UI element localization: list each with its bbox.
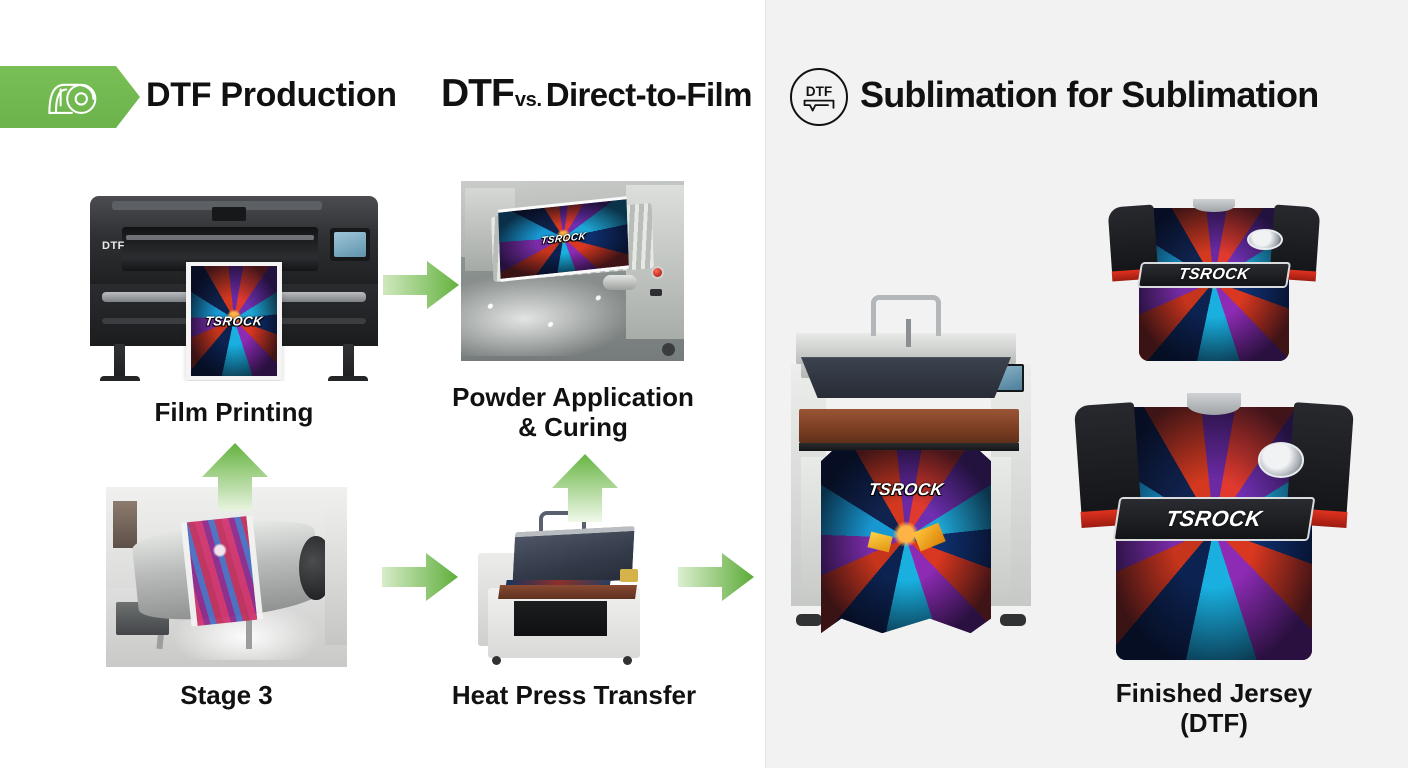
jersey-bottom-crest-badge <box>1258 442 1304 477</box>
caption-heat-press-transfer: Heat Press Transfer <box>424 681 724 711</box>
big-press-lower-platen <box>799 409 1019 444</box>
big-press-draped-jersey: TSROCK <box>821 450 991 633</box>
calender-printed-fabric <box>180 516 263 627</box>
heat-press-transfer-image <box>474 508 654 668</box>
calender-wall-panel <box>113 501 137 548</box>
powder-film-artwork: TSROCK <box>498 199 629 279</box>
heat-press-upper-platen <box>512 526 634 587</box>
big-press-platen-edge <box>799 443 1019 451</box>
printer-foot-left <box>100 376 140 381</box>
header-title-middle-strong: DTF <box>441 72 514 116</box>
printer-foot-right <box>328 376 368 381</box>
big-press-heat-platen <box>801 357 1011 398</box>
heat-press-caster-right <box>623 656 632 665</box>
dtf-circle-badge: DTF <box>790 68 848 126</box>
big-press-jersey-artwork: TSROCK <box>821 450 991 633</box>
powder-application-image: TSROCK <box>461 181 684 361</box>
calender-support-post <box>325 509 347 646</box>
print-artwork: TSROCK <box>191 266 277 376</box>
big-press-handle <box>871 295 941 336</box>
jersey-bottom-logo-text: TSROCK <box>1164 506 1264 532</box>
heat-press-control-knob[interactable] <box>620 569 638 582</box>
printed-film-output: TSROCK <box>186 262 282 380</box>
jersey-top: TSROCK <box>1110 196 1318 361</box>
printer-control-panel <box>330 228 370 261</box>
jersey-top-logo-text: TSROCK <box>1177 266 1250 284</box>
caption-powder-application: Powder Application & Curing <box>423 383 723 442</box>
arrow-print-to-powder-icon <box>381 256 461 314</box>
print-artwork-text: TSROCK <box>191 314 277 329</box>
big-press-jersey-text: TSROCK <box>821 480 991 500</box>
header-title-middle: DTF vs. Direct-to-Film <box>441 72 752 116</box>
dtf-circle-icon: DTF <box>798 78 840 116</box>
heat-press-cavity <box>514 601 608 636</box>
caption-stage-3: Stage 3 <box>106 681 347 711</box>
arrow-stage3-to-print-icon <box>196 441 274 513</box>
caption-film-printing: Film Printing <box>84 398 384 428</box>
dtf-production-badge <box>0 66 140 128</box>
jersey-bottom-logo: TSROCK <box>1113 497 1316 541</box>
header-title-middle-rest: Direct-to-Film <box>546 76 752 114</box>
arrow-heatpress-to-powder-icon <box>546 452 624 524</box>
infographic-canvas: DTF Production DTF vs. Direct-to-Film DT… <box>0 0 1408 768</box>
header-title-right: Sublimation for Sublimation <box>860 74 1318 116</box>
caption-finished-jersey: Finished Jersey (DTF) <box>1064 679 1364 738</box>
printer-carriage-rail <box>126 235 314 240</box>
heat-press-caster-left <box>492 656 501 665</box>
powder-printed-film: TSROCK <box>498 196 629 282</box>
powder-roller <box>603 275 637 290</box>
heat-press-lower-platen <box>498 585 637 599</box>
printer-top-tab <box>212 207 246 221</box>
header-title-middle-vs: vs. <box>515 89 542 112</box>
jersey-bottom: TSROCK <box>1078 388 1350 660</box>
header-title-left: DTF Production <box>146 76 397 115</box>
svg-text:DTF: DTF <box>806 84 832 99</box>
sublimation-heat-press-image: TSROCK <box>786 295 1036 640</box>
jersey-top-logo: TSROCK <box>1137 262 1291 288</box>
film-roll-icon <box>40 77 100 117</box>
big-press-foot-left <box>796 614 822 626</box>
powder-machine-caster <box>662 343 675 356</box>
printer-brand-label: DTF <box>102 240 125 252</box>
big-press-foot-right <box>1000 614 1026 626</box>
emergency-stop-button[interactable] <box>651 266 664 279</box>
powder-film-artwork-text: TSROCK <box>499 226 629 251</box>
panel-divider <box>765 0 766 768</box>
jersey-top-crest-badge <box>1247 229 1282 250</box>
film-printing-image: DTF TSROCK <box>84 196 384 381</box>
arrow-heatpress-to-finished-icon <box>676 548 756 606</box>
printer-lcd-screen <box>334 232 366 257</box>
arrow-stage3-to-heatpress-icon <box>380 548 460 606</box>
stage-3-image <box>106 487 347 667</box>
powder-machine-switch[interactable] <box>650 289 662 296</box>
